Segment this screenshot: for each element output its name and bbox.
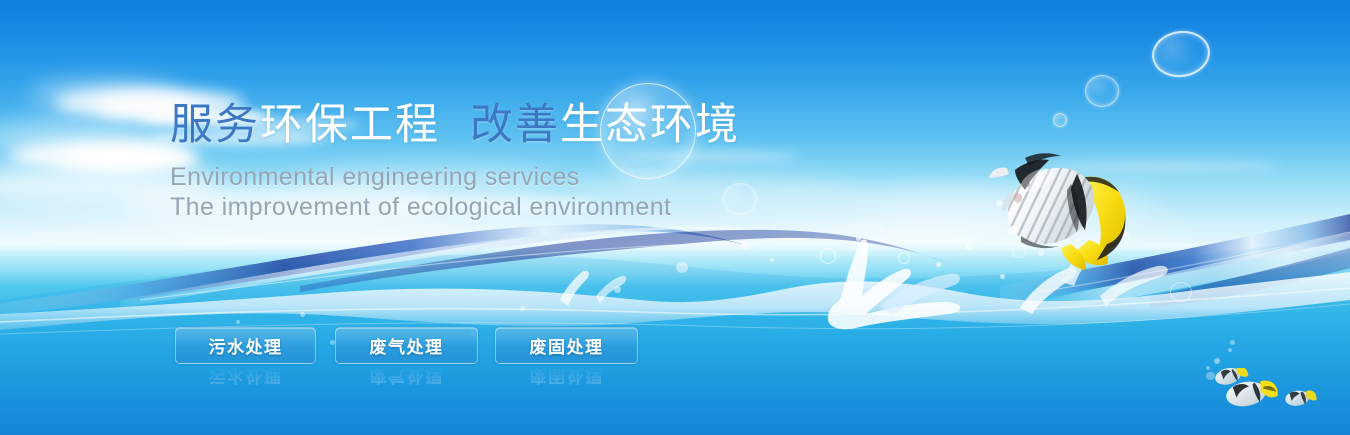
water-droplet [898,252,910,264]
water-droplet [1000,274,1005,279]
water-droplet [236,320,240,324]
water-droplet [1038,250,1044,256]
water-droplet [614,286,621,293]
water-droplet [820,248,836,264]
butterflyfish-icon [985,148,1135,273]
water-droplet [966,244,972,250]
button-solid-waste-treatment[interactable]: 废固处理 [495,327,638,364]
water-wave-graphic [0,0,1350,435]
water-droplet [1008,226,1017,235]
water-droplet [1170,282,1192,302]
water-droplet [880,228,884,232]
water-droplet [1206,372,1215,380]
water-droplet [520,306,525,311]
water-droplet [676,262,688,273]
water-droplet [300,312,305,317]
button-wastewater-treatment[interactable]: 污水处理 [175,327,316,364]
water-droplet [1012,244,1026,258]
water-droplet [996,200,1002,206]
water-droplet [856,236,861,241]
button-waste-gas-treatment[interactable]: 废气处理 [335,327,478,364]
service-buttons-row: 污水处理 污水处理 废气处理 废气处理 废固处理 废固处理 [0,327,1350,367]
water-droplet [936,262,941,267]
water-droplet [742,243,748,249]
butterflyfish-school-icon [1210,368,1330,428]
environmental-banner: 服务环保工程改善生态环境 Environmental engineering s… [0,0,1350,435]
water-droplet [770,258,774,262]
button-label: 污水处理 [209,333,283,358]
button-label: 废气处理 [370,333,444,358]
button-label: 废固处理 [530,333,604,358]
